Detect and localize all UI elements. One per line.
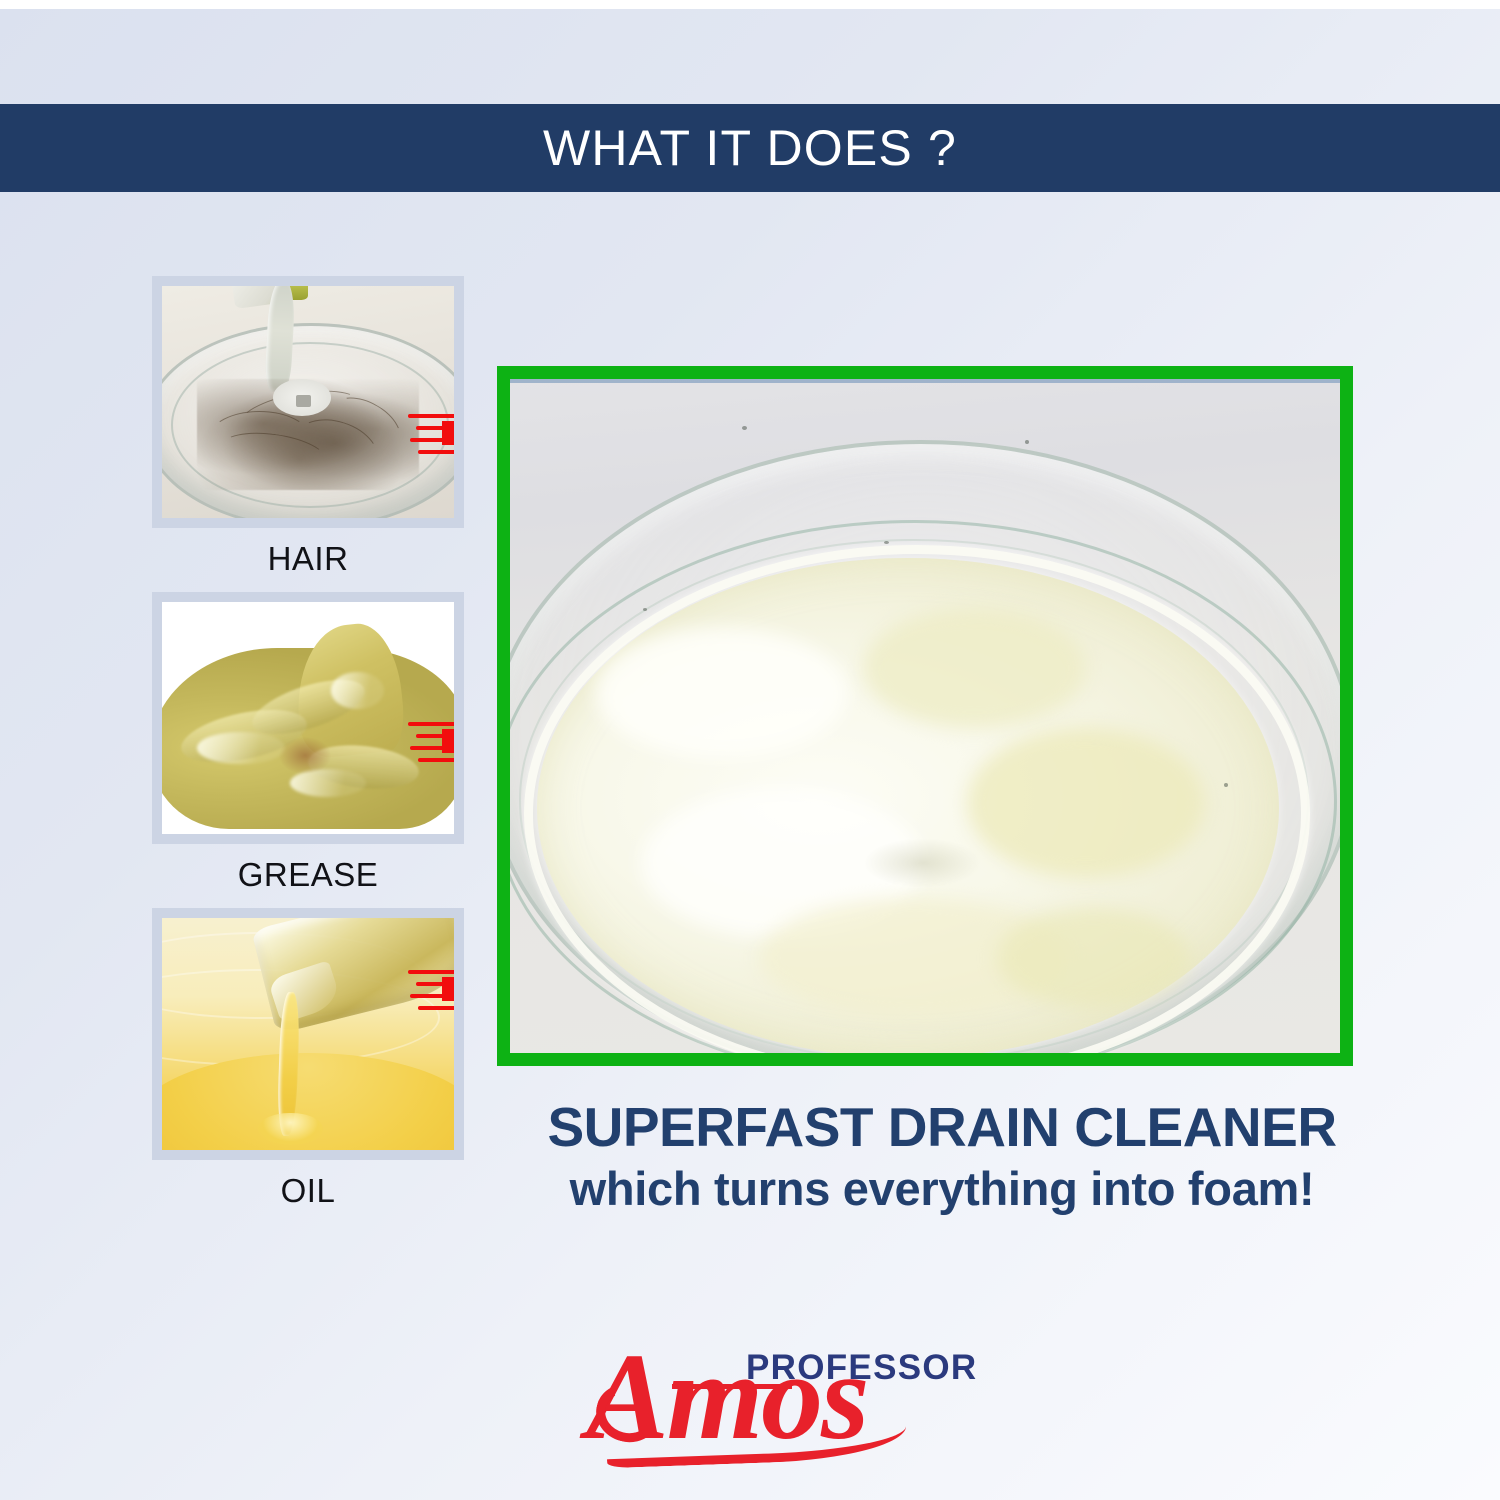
oil-splash: [258, 1113, 322, 1145]
ingredient-label-grease: GREASE: [152, 856, 464, 894]
hair-photo-art: [162, 286, 454, 518]
photo-speck: [643, 608, 647, 611]
result-image: [510, 379, 1340, 1053]
ingredient-card-oil: OIL: [152, 908, 464, 1210]
ingredient-card-hair: HAIR: [152, 276, 464, 578]
ingredient-card-grease: GREASE: [152, 592, 464, 894]
brand-logo: Amos PROFESSOR: [560, 1332, 980, 1482]
photo-speck: [884, 541, 889, 544]
headline-block: SUPERFAST DRAIN CLEANER which turns ever…: [497, 1098, 1387, 1216]
result-image-frame: [497, 366, 1353, 1066]
photo-speck: [742, 426, 747, 430]
hair-drain-slot: [296, 395, 311, 407]
glass-bowl-outer: [510, 440, 1340, 1053]
thumbnail-frame-hair: [152, 276, 464, 528]
logo-professor-word: PROFESSOR: [746, 1350, 977, 1385]
thumbnail-image-grease: [162, 602, 454, 834]
grease-highlight: [331, 672, 384, 709]
thumbnail-frame-oil: [152, 908, 464, 1160]
headline-primary: SUPERFAST DRAIN CLEANER: [497, 1098, 1387, 1157]
photo-speck: [1025, 440, 1029, 444]
grease-highlight: [197, 732, 285, 764]
ingredient-label-hair: HAIR: [152, 540, 464, 578]
ingredient-list: HAIR: [152, 276, 464, 1224]
foam-edge-ring: [524, 545, 1310, 1053]
result-photo-topline: [510, 379, 1340, 383]
header-banner: WHAT IT DOES ?: [0, 104, 1500, 192]
thumbnail-frame-grease: [152, 592, 464, 844]
page-title: WHAT IT DOES ?: [543, 123, 957, 173]
oil-photo-art: [162, 918, 454, 1150]
infographic-page: WHAT IT DOES ?: [0, 0, 1500, 1500]
ingredient-label-oil: OIL: [152, 1172, 464, 1210]
grease-shadow-pocket: [279, 737, 332, 774]
top-white-strip: [0, 0, 1500, 9]
thumbnail-image-oil: [162, 918, 454, 1150]
headline-secondary: which turns everything into foam!: [497, 1163, 1387, 1216]
thumbnail-image-hair: [162, 286, 454, 518]
grease-photo-art: [162, 602, 454, 834]
